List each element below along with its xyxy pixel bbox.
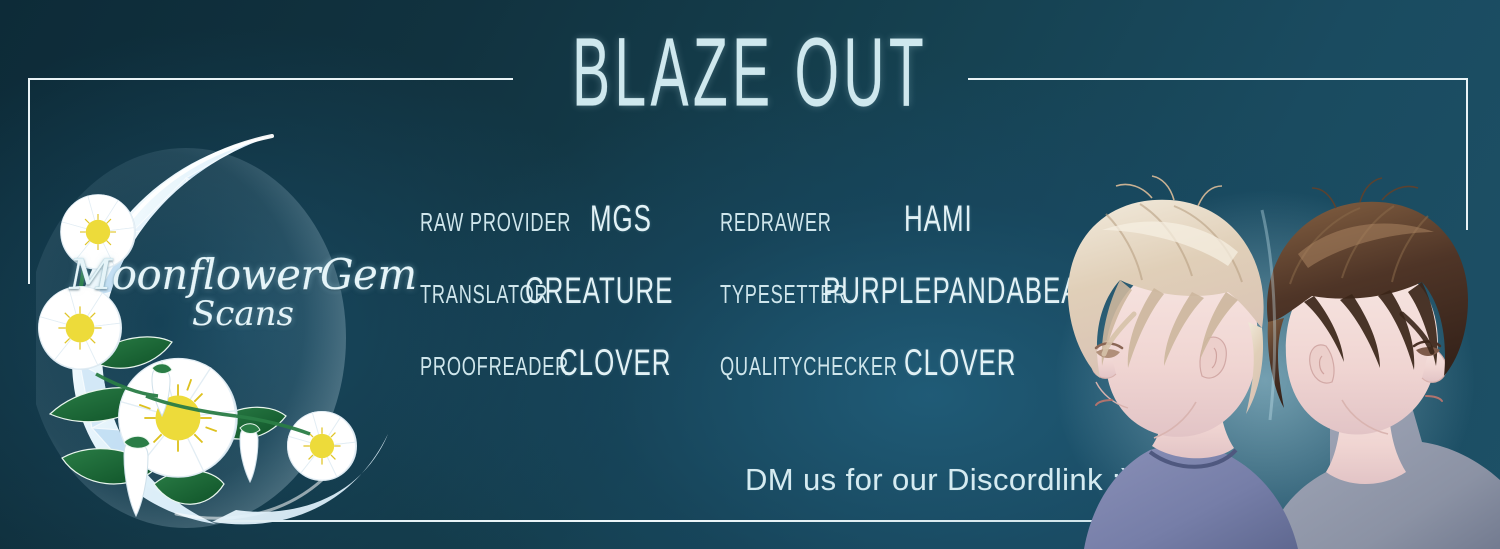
credit-role-label: PROOFREADER xyxy=(420,351,572,382)
credit-role-label: RAW PROVIDER xyxy=(420,207,594,238)
credit-entry-translator: TRANSLATOR CREATURE xyxy=(420,270,720,312)
morning-glory-flower-right xyxy=(287,411,356,480)
credit-entry-qualitychecker: QUALITYCHECKER CLOVER xyxy=(720,342,1080,384)
table-row: RAW PROVIDER MGS REDRAWER HAMI xyxy=(420,198,1080,270)
two-characters-illustration xyxy=(1030,150,1500,549)
character-artwork xyxy=(1030,150,1500,549)
morning-glory-flower-middle xyxy=(38,286,121,369)
credits-banner: BLAZE OUT xyxy=(0,0,1500,549)
frame-line-left xyxy=(28,78,30,284)
credit-entry-proofreader: PROOFREADER CLOVER xyxy=(420,342,720,384)
credit-role-label: REDRAWER xyxy=(720,207,903,238)
table-row: TRANSLATOR CREATURE TYPESETTER PURPLEPAN… xyxy=(420,270,1080,342)
credit-value-text: HAMI xyxy=(904,198,973,240)
credit-entry-typesetter: TYPESETTER PURPLEPANDABEAR xyxy=(720,270,1080,312)
credit-value-text: CLOVER xyxy=(559,342,671,384)
credits-grid: RAW PROVIDER MGS REDRAWER HAMI TRANSLATO… xyxy=(420,198,1080,414)
credit-entry-redrawer: REDRAWER HAMI xyxy=(720,198,1080,240)
table-row: PROOFREADER CLOVER QUALITYCHECKER CLOVER xyxy=(420,342,1080,414)
credit-value-text: CLOVER xyxy=(904,342,1016,384)
bottom-divider xyxy=(218,520,1103,522)
credit-entry-raw-provider: RAW PROVIDER MGS xyxy=(420,198,720,240)
credit-value-text: CREATURE xyxy=(525,270,673,312)
banner-title: BLAZE OUT xyxy=(285,24,1215,122)
credit-role-label: QUALITYCHECKER xyxy=(720,351,903,382)
scanlation-logo: MoonflowerGem Scans xyxy=(36,128,428,528)
credit-value-text: MGS xyxy=(590,198,652,240)
moon-flower-logo-icon xyxy=(36,128,428,528)
